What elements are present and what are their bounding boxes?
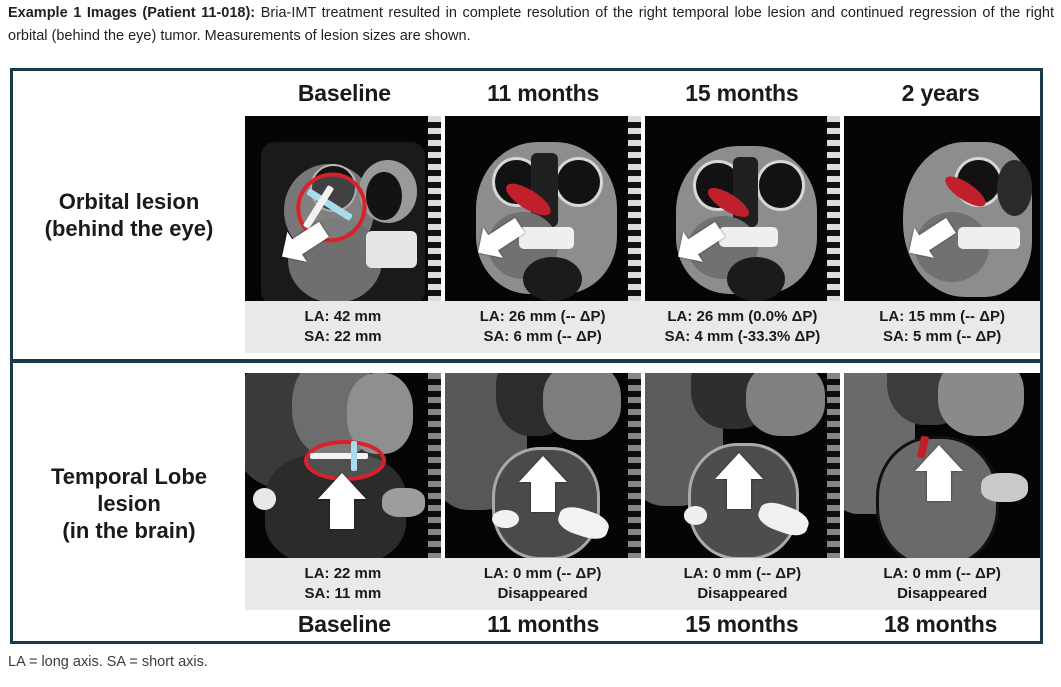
mri-image: [245, 373, 441, 558]
temporal-header-11-months: 11 months: [444, 604, 643, 644]
temporal-measurement-strip: LA: 22 mm SA: 11 mm LA: 0 mm (-- ΔP) Dis…: [245, 558, 1040, 610]
caption-lead: Example 1 Images (Patient 11-018):: [8, 5, 255, 21]
row-label-temporal: Temporal Lobe lesion (in the brain): [13, 363, 245, 644]
mri-image: [844, 373, 1040, 558]
row-label-orbital-line2: (behind the eye): [45, 215, 214, 242]
measurement-la: LA: 0 mm (-- ΔP): [684, 564, 801, 584]
measurement-temporal-11-months: LA: 0 mm (-- ΔP) Disappeared: [445, 558, 641, 610]
mri-temporal-baseline: [245, 373, 441, 558]
orbital-header-2-years: 2 years: [841, 73, 1040, 113]
figure-caption: Example 1 Images (Patient 11-018): Bria-…: [8, 2, 1054, 48]
mri-temporal-15-months: [645, 373, 841, 558]
mri-temporal-11-months: [445, 373, 641, 558]
measurement-sa: SA: 4 mm (-33.3% ΔP): [664, 327, 820, 347]
orbital-header-11-months: 11 months: [444, 73, 643, 113]
mri-orbital-11-months: [445, 116, 641, 301]
temporal-header-18-months: 18 months: [841, 604, 1040, 644]
measurement-sa: SA: 6 mm (-- ΔP): [483, 327, 601, 347]
caliper-short-axis: [351, 441, 357, 471]
mri-ruler-strip: [827, 373, 840, 558]
mri-image: [645, 373, 841, 558]
row-temporal-lobe-lesion: Temporal Lobe lesion (in the brain): [13, 359, 1040, 644]
mri-temporal-18-months: [844, 373, 1040, 558]
measurement-sa: SA: 5 mm (-- ΔP): [883, 327, 1001, 347]
measurement-la: LA: 0 mm (-- ΔP): [883, 564, 1000, 584]
orbital-header-baseline: Baseline: [245, 73, 444, 113]
measurement-orbital-15-months: LA: 26 mm (0.0% ΔP) SA: 4 mm (-33.3% ΔP): [645, 301, 841, 353]
mri-ruler-strip: [628, 116, 641, 301]
row-label-temporal-line2: lesion: [51, 490, 207, 517]
measurement-sa: SA: 22 mm: [304, 327, 382, 347]
caliper-long-axis: [310, 453, 369, 459]
measurement-status: Disappeared: [498, 584, 588, 604]
temporal-header-strip: Baseline 11 months 15 months 18 months: [245, 604, 1040, 644]
measurement-la: LA: 26 mm (0.0% ΔP): [667, 307, 817, 327]
measurement-orbital-11-months: LA: 26 mm (-- ΔP) SA: 6 mm (-- ΔP): [445, 301, 641, 353]
measurement-sa: SA: 11 mm: [305, 584, 382, 604]
mri-orbital-2-years: [844, 116, 1040, 301]
mri-ruler-strip: [827, 116, 840, 301]
measurement-temporal-18-months: LA: 0 mm (-- ΔP) Disappeared: [844, 558, 1040, 610]
mri-image: [245, 116, 441, 301]
orbital-image-strip: [245, 116, 1040, 301]
row-label-temporal-line1: Temporal Lobe: [51, 463, 207, 490]
figure-footnote: LA = long axis. SA = short axis.: [8, 654, 208, 670]
measurement-temporal-15-months: LA: 0 mm (-- ΔP) Disappeared: [645, 558, 841, 610]
orbital-header-strip: Baseline 11 months 15 months 2 years: [245, 73, 1040, 113]
mri-ruler-strip: [628, 373, 641, 558]
mri-image: [645, 116, 841, 301]
measurement-la: LA: 15 mm (-- ΔP): [879, 307, 1005, 327]
measurement-orbital-baseline: LA: 42 mm SA: 22 mm: [245, 301, 441, 353]
measurement-status: Disappeared: [897, 584, 987, 604]
measurement-orbital-2-years: LA: 15 mm (-- ΔP) SA: 5 mm (-- ΔP): [844, 301, 1040, 353]
measurement-la: LA: 0 mm (-- ΔP): [484, 564, 601, 584]
mri-image: [445, 116, 641, 301]
mri-orbital-baseline: [245, 116, 441, 301]
measurement-la: LA: 42 mm: [305, 307, 382, 327]
measurement-status: Disappeared: [697, 584, 787, 604]
temporal-image-strip: [245, 373, 1040, 558]
row-orbital-lesion: Orbital lesion (behind the eye) Baseline…: [13, 71, 1040, 359]
orbital-measurement-strip: LA: 42 mm SA: 22 mm LA: 26 mm (-- ΔP) SA…: [245, 301, 1040, 353]
mri-image: [445, 373, 641, 558]
orbital-columns: Baseline 11 months 15 months 2 years: [245, 71, 1040, 359]
temporal-header-15-months: 15 months: [643, 604, 842, 644]
mri-image: [844, 116, 1040, 301]
mri-orbital-15-months: [645, 116, 841, 301]
temporal-columns: LA: 22 mm SA: 11 mm LA: 0 mm (-- ΔP) Dis…: [245, 363, 1040, 644]
figure-panel: Orbital lesion (behind the eye) Baseline…: [10, 68, 1043, 644]
row-label-orbital-line1: Orbital lesion: [45, 188, 214, 215]
mri-ruler-strip: [428, 373, 441, 558]
measurement-la: LA: 26 mm (-- ΔP): [480, 307, 606, 327]
measurement-la: LA: 22 mm: [305, 564, 382, 584]
row-label-temporal-line3: (in the brain): [51, 517, 207, 544]
mri-ruler-strip: [428, 116, 441, 301]
row-label-orbital: Orbital lesion (behind the eye): [13, 71, 245, 359]
temporal-header-baseline: Baseline: [245, 604, 444, 644]
measurement-temporal-baseline: LA: 22 mm SA: 11 mm: [245, 558, 441, 610]
orbital-header-15-months: 15 months: [643, 73, 842, 113]
